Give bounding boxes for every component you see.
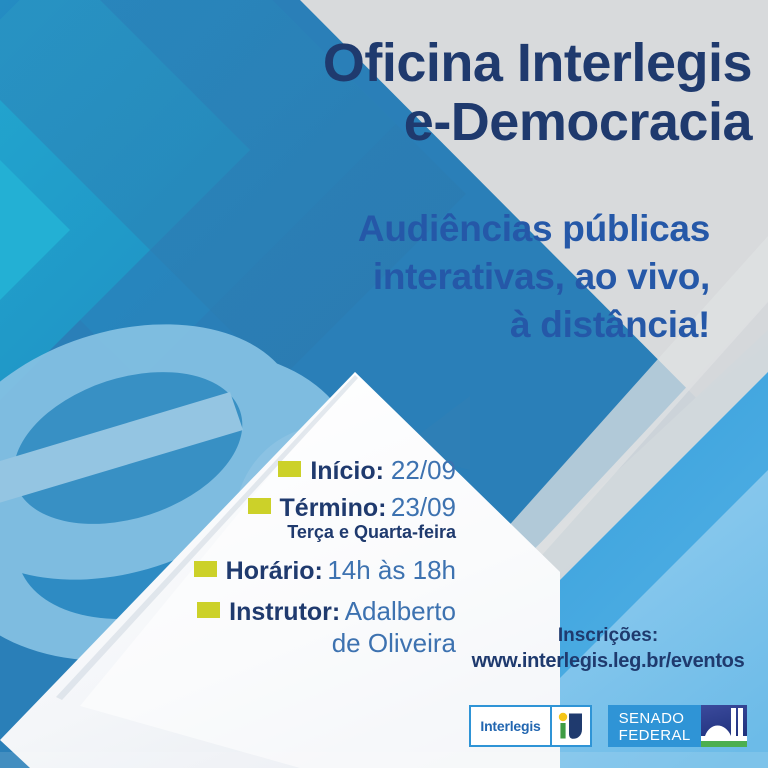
detail-value-inicio: 22/09 <box>391 455 456 485</box>
page-title: Oficina Interlegis e-Democracia <box>120 34 752 153</box>
senado-wordmark: SENADO FEDERAL <box>608 705 701 747</box>
title-line-2: e-Democracia <box>120 93 752 152</box>
page-subtitle: Audiências públicas interativas, ao vivo… <box>200 205 710 349</box>
detail-value-instrutor: Adalberto <box>345 596 456 626</box>
interlegis-logo: Interlegis <box>469 705 591 747</box>
registration-label: Inscrições: <box>452 624 764 648</box>
instructor-name-line-2: de Oliveira <box>60 628 480 659</box>
detail-row-inicio: Início:22/09 <box>60 455 480 486</box>
subtitle-line-1: Audiências públicas <box>200 205 710 253</box>
bullet-square-icon <box>197 602 220 618</box>
registration-info: Inscrições: www.interlegis.leg.br/evento… <box>452 624 764 674</box>
subtitle-line-3: à distância! <box>200 301 710 349</box>
event-details: Início:22/09 Término: 23/09 Terça e Quar… <box>60 455 480 659</box>
registration-url[interactable]: www.interlegis.leg.br/eventos <box>452 648 764 674</box>
interlegis-mark-icon <box>550 707 590 745</box>
bullet-square-icon <box>248 498 271 514</box>
interlegis-wordmark: Interlegis <box>471 707 549 745</box>
senado-line-2: FEDERAL <box>619 728 691 744</box>
senado-line-1: SENADO <box>619 711 691 727</box>
senado-federal-logo: SENADO FEDERAL <box>608 705 747 747</box>
poster-canvas: Oficina Interlegis e-Democracia Audiênci… <box>0 0 768 768</box>
title-line-1: Oficina Interlegis <box>120 34 752 93</box>
content-layer: Oficina Interlegis e-Democracia Audiênci… <box>0 0 768 768</box>
detail-label-termino: Término: <box>280 494 387 522</box>
detail-label-horario: Horário: <box>226 557 323 585</box>
detail-label-inicio: Início: <box>310 457 384 485</box>
bullet-square-icon <box>194 561 217 577</box>
detail-label-instrutor: Instrutor: <box>229 598 340 626</box>
detail-row-termino: Término: 23/09 <box>60 492 480 523</box>
detail-value-horario: 14h às 18h <box>327 555 456 585</box>
detail-row-instrutor: Instrutor: Adalberto <box>60 596 480 627</box>
bullet-square-icon <box>278 461 301 477</box>
detail-value-termino: 23/09 <box>391 492 456 522</box>
logo-bar: Interlegis SENADO FEDERAL <box>452 703 764 749</box>
subtitle-line-2: interativas, ao vivo, <box>200 253 710 301</box>
congress-building-icon <box>701 705 747 747</box>
detail-row-horario: Horário: 14h às 18h <box>60 555 480 586</box>
weekday-note: Terça e Quarta-feira <box>60 522 480 543</box>
